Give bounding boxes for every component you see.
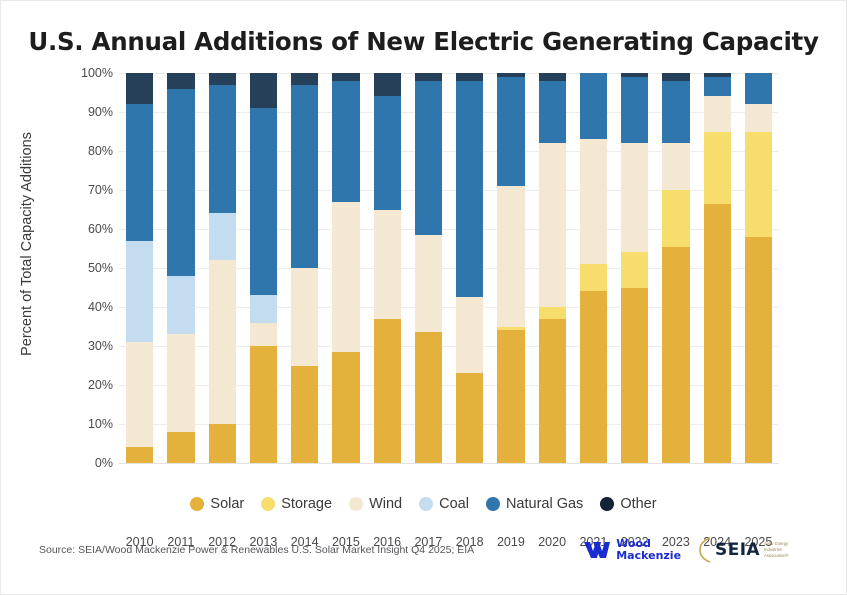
legend-item-natural-gas[interactable]: Natural Gas <box>486 496 583 512</box>
bar-segment-natural-gas[interactable] <box>456 81 483 297</box>
bar-column[interactable] <box>655 73 696 463</box>
legend-item-solar[interactable]: Solar <box>190 496 244 512</box>
legend-label: Other <box>620 496 656 512</box>
legend-item-wind[interactable]: Wind <box>349 496 402 512</box>
plot-area: Percent of Total Capacity Additions 100%… <box>1 73 847 463</box>
bar-segment-solar[interactable] <box>704 204 731 463</box>
bar-stack <box>209 73 236 463</box>
bar-column[interactable] <box>738 73 779 463</box>
bar-stack <box>662 73 689 463</box>
bar-segment-solar[interactable] <box>250 346 277 463</box>
bar-column[interactable] <box>367 73 408 463</box>
bar-segment-solar[interactable] <box>167 432 194 463</box>
y-tick-label: 70% <box>63 183 113 197</box>
bar-segment-other[interactable] <box>291 73 318 85</box>
bar-segment-solar[interactable] <box>662 247 689 463</box>
bar-segment-wind[interactable] <box>332 202 359 352</box>
bar-stack <box>621 73 648 463</box>
bar-stack <box>167 73 194 463</box>
wood-mackenzie-mark-icon <box>584 541 610 559</box>
bar-segment-solar[interactable] <box>291 366 318 464</box>
bar-segment-wind[interactable] <box>745 104 772 131</box>
bar-segment-storage[interactable] <box>745 132 772 237</box>
bar-segment-coal[interactable] <box>250 295 277 322</box>
seia-arc-icon <box>699 537 711 563</box>
bar-column[interactable] <box>532 73 573 463</box>
bar-segment-storage[interactable] <box>580 264 607 291</box>
bar-segment-natural-gas[interactable] <box>209 85 236 214</box>
bar-segment-other[interactable] <box>209 73 236 85</box>
bar-segment-other[interactable] <box>539 73 566 81</box>
bar-column[interactable] <box>614 73 655 463</box>
legend-item-coal[interactable]: Coal <box>419 496 469 512</box>
y-tick-label: 20% <box>63 378 113 392</box>
bar-column[interactable] <box>697 73 738 463</box>
bar-stack <box>291 73 318 463</box>
legend-swatch-icon <box>349 497 363 511</box>
bar-segment-natural-gas[interactable] <box>497 77 524 186</box>
bar-segment-other[interactable] <box>415 73 442 81</box>
bar-segment-wind[interactable] <box>539 143 566 307</box>
bar-segment-solar[interactable] <box>497 330 524 463</box>
bar-segment-solar[interactable] <box>209 424 236 463</box>
bar-segment-solar[interactable] <box>456 373 483 463</box>
legend-label: Storage <box>281 496 332 512</box>
bar-stack <box>126 73 153 463</box>
bar-segment-natural-gas[interactable] <box>374 96 401 209</box>
bar-column[interactable] <box>408 73 449 463</box>
bar-column[interactable] <box>573 73 614 463</box>
source-note: Source: SEIA/Wood Mackenzie Power & Rene… <box>39 544 474 556</box>
legend-swatch-icon <box>261 497 275 511</box>
chart-footer: Source: SEIA/Wood Mackenzie Power & Rene… <box>1 534 846 570</box>
bar-segment-natural-gas[interactable] <box>126 104 153 241</box>
y-tick-label: 60% <box>63 222 113 236</box>
legend-swatch-icon <box>486 497 500 511</box>
bar-segment-natural-gas[interactable] <box>745 73 772 104</box>
seia-wordmark: SEIA <box>715 540 760 560</box>
y-tick-label: 100% <box>63 66 113 80</box>
chart-legend: SolarStorageWindCoalNatural GasOther <box>1 496 846 512</box>
bar-segment-other[interactable] <box>662 73 689 81</box>
legend-label: Coal <box>439 496 469 512</box>
bar-column[interactable] <box>490 73 531 463</box>
bar-segment-solar[interactable] <box>745 237 772 463</box>
legend-label: Wind <box>369 496 402 512</box>
chart-card: U.S. Annual Additions of New Electric Ge… <box>0 0 847 595</box>
bar-stack <box>539 73 566 463</box>
seia-logo: SEIA Solar Energy Industries Association… <box>695 534 816 566</box>
bar-segment-natural-gas[interactable] <box>580 73 607 139</box>
legend-swatch-icon <box>600 497 614 511</box>
gridline <box>119 463 779 464</box>
bar-segment-other[interactable] <box>167 73 194 89</box>
bar-segment-storage[interactable] <box>704 132 731 204</box>
bar-segment-wind[interactable] <box>167 334 194 432</box>
bar-segment-wind[interactable] <box>704 96 731 131</box>
bar-segment-other[interactable] <box>126 73 153 104</box>
wm-line2: Mackenzie <box>616 550 681 562</box>
bar-segment-wind[interactable] <box>621 143 648 252</box>
bar-segment-coal[interactable] <box>126 241 153 342</box>
bar-segment-storage[interactable] <box>621 252 648 287</box>
bar-segment-natural-gas[interactable] <box>704 77 731 97</box>
y-tick-label: 30% <box>63 339 113 353</box>
bar-segment-wind[interactable] <box>662 143 689 190</box>
bar-stack <box>374 73 401 463</box>
bar-segment-solar[interactable] <box>332 352 359 463</box>
seia-tagline: Solar Energy Industries Association® <box>764 541 808 559</box>
bar-segment-wind[interactable] <box>250 323 277 346</box>
bar-segment-other[interactable] <box>456 73 483 81</box>
y-axis-ticks: 100%90%80%70%60%50%40%30%20%10%0% <box>63 73 113 463</box>
y-tick-label: 40% <box>63 300 113 314</box>
bar-column[interactable] <box>119 73 160 463</box>
bar-stack <box>745 73 772 463</box>
bar-column[interactable] <box>325 73 366 463</box>
bar-column[interactable] <box>160 73 201 463</box>
seia-tagline-line3: Association® <box>764 553 808 559</box>
bar-stack <box>250 73 277 463</box>
bar-segment-solar[interactable] <box>580 291 607 463</box>
bar-segment-storage[interactable] <box>539 307 566 319</box>
legend-swatch-icon <box>419 497 433 511</box>
wood-mackenzie-wordmark: Wood Mackenzie <box>616 538 681 561</box>
bar-segment-other[interactable] <box>250 73 277 108</box>
bar-segment-wind[interactable] <box>415 235 442 333</box>
bar-segment-natural-gas[interactable] <box>621 77 648 143</box>
bar-segment-wind[interactable] <box>497 186 524 326</box>
y-tick-label: 90% <box>63 105 113 119</box>
bar-segment-solar[interactable] <box>621 288 648 464</box>
bar-segment-natural-gas[interactable] <box>662 81 689 143</box>
y-tick-label: 0% <box>63 456 113 470</box>
y-tick-label: 10% <box>63 417 113 431</box>
bar-stack <box>580 73 607 463</box>
bar-segment-wind[interactable] <box>456 297 483 373</box>
bar-segment-coal[interactable] <box>209 213 236 260</box>
legend-swatch-icon <box>190 497 204 511</box>
bar-segment-solar[interactable] <box>374 319 401 463</box>
bar-stack <box>704 73 731 463</box>
legend-label: Natural Gas <box>506 496 583 512</box>
legend-label: Solar <box>210 496 244 512</box>
page-title: U.S. Annual Additions of New Electric Ge… <box>1 27 846 56</box>
bar-segment-other[interactable] <box>332 73 359 81</box>
bar-column[interactable] <box>202 73 243 463</box>
y-tick-label: 80% <box>63 144 113 158</box>
bar-stack <box>497 73 524 463</box>
legend-item-other[interactable]: Other <box>600 496 656 512</box>
bar-segment-natural-gas[interactable] <box>167 89 194 276</box>
bar-segment-wind[interactable] <box>126 342 153 447</box>
bar-segment-natural-gas[interactable] <box>415 81 442 235</box>
bar-segment-solar[interactable] <box>415 332 442 463</box>
bar-segment-natural-gas[interactable] <box>332 81 359 202</box>
logo-group: Wood Mackenzie SEIA Solar Energy Industr… <box>584 534 816 566</box>
y-tick-label: 50% <box>63 261 113 275</box>
bar-stack <box>332 73 359 463</box>
bar-stack <box>456 73 483 463</box>
bar-column[interactable] <box>243 73 284 463</box>
bar-column[interactable] <box>449 73 490 463</box>
wood-mackenzie-logo: Wood Mackenzie <box>584 538 681 561</box>
bar-stack <box>415 73 442 463</box>
bar-segment-wind[interactable] <box>580 139 607 264</box>
bar-segment-solar[interactable] <box>539 319 566 463</box>
y-axis-title: Percent of Total Capacity Additions <box>19 79 35 409</box>
bar-segment-coal[interactable] <box>167 276 194 335</box>
legend-item-storage[interactable]: Storage <box>261 496 332 512</box>
bar-segment-natural-gas[interactable] <box>250 108 277 295</box>
bar-series-group <box>119 73 779 463</box>
bar-segment-natural-gas[interactable] <box>291 85 318 268</box>
bar-column[interactable] <box>284 73 325 463</box>
bar-segment-solar[interactable] <box>126 447 153 463</box>
bar-segment-other[interactable] <box>374 73 401 96</box>
bar-segment-wind[interactable] <box>209 260 236 424</box>
bar-segment-wind[interactable] <box>374 210 401 319</box>
bar-segment-storage[interactable] <box>662 190 689 247</box>
bar-segment-natural-gas[interactable] <box>539 81 566 143</box>
bar-segment-wind[interactable] <box>291 268 318 366</box>
